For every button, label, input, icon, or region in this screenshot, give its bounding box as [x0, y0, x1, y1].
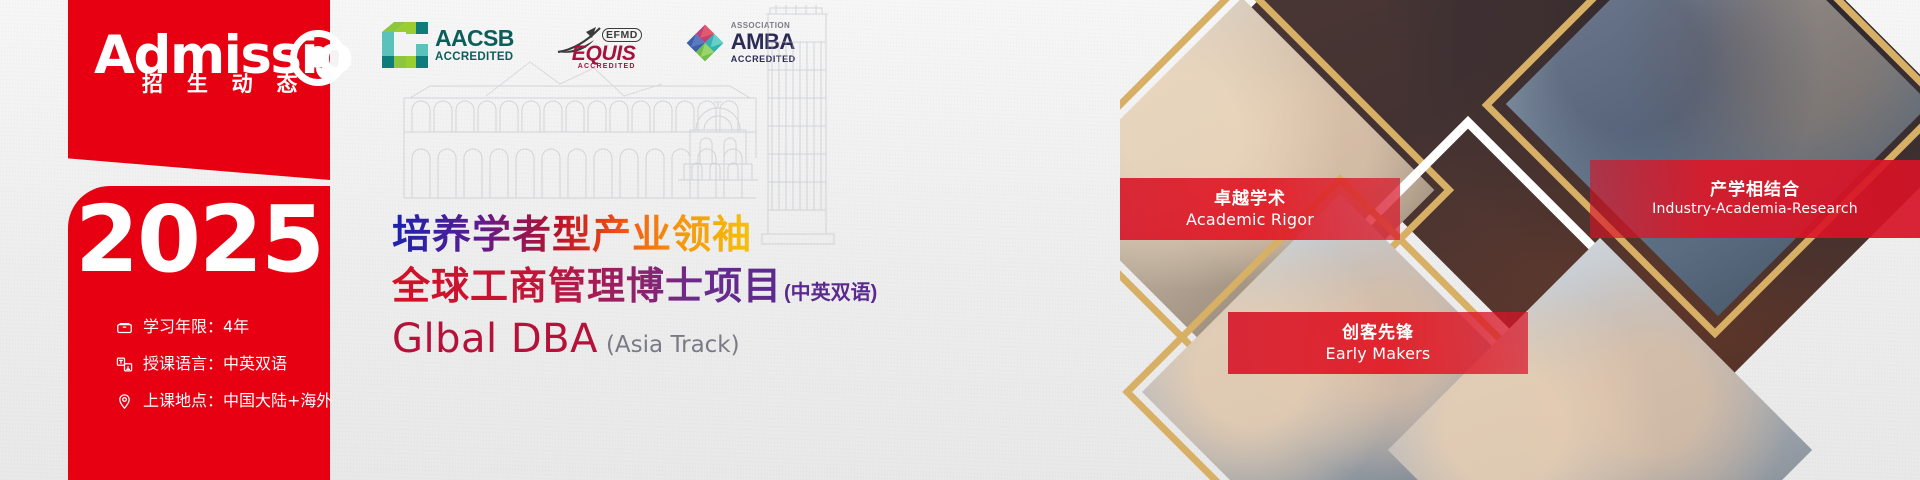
program-title-cn: 全球工商管理博士项目 [392, 264, 782, 310]
amba-name: AMBA [731, 30, 796, 53]
badge-early-makers-cn: 创客先锋 [1242, 323, 1514, 344]
amba-sub: ACCREDITED [731, 55, 796, 64]
amba-logo: ASSOCIATION AMBA ACCREDITED [684, 22, 796, 64]
badge-academic-rigor-cn: 卓越学术 [1120, 189, 1386, 210]
aacsb-squares-icon [382, 22, 428, 68]
aacsb-name: AACSB [435, 27, 514, 50]
aacsb-sub: ACCREDITED [435, 52, 514, 64]
badge-academic-rigor-en: Academic Rigor [1120, 210, 1386, 230]
amba-diamond-icon [684, 22, 726, 64]
calendar-icon [116, 319, 133, 336]
badge-early-makers-en: Early Makers [1242, 344, 1514, 364]
program-title-en-note: (Asia Track) [606, 332, 740, 358]
left-red-panel: Admissio 招 生 动 态 2025 学习年限：4年 [68, 0, 330, 480]
amba-text: ASSOCIATION AMBA ACCREDITED [731, 22, 796, 64]
program-title-cn-note: (中英双语) [784, 276, 877, 305]
equis-logo: EFMD EQUIS ACCREDITED [556, 22, 642, 70]
location-pin-icon [116, 393, 133, 410]
aacsb-logo: AACSB ACCREDITED [382, 22, 514, 68]
info-text-language: 授课语言：中英双语 [143, 355, 287, 373]
tagline: 培养学者型产业领袖 [392, 214, 752, 258]
info-row-location: 上课地点：中国大陆+海外 [116, 392, 356, 410]
aacsb-text: AACSB ACCREDITED [435, 27, 514, 64]
info-row-duration: 学习年限：4年 [116, 318, 356, 336]
accreditation-logos: AACSB ACCREDITED EFMD EQUIS ACCREDITED [382, 22, 796, 70]
admission-banner: Admissio 招 生 动 态 2025 学习年限：4年 [0, 0, 1920, 480]
year-label: 2025 [68, 186, 330, 294]
badge-academic-rigor: 卓越学术 Academic Rigor [1120, 178, 1400, 240]
photo-collage: 卓越学术 Academic Rigor 产学相结合 Industry-Acade… [1120, 0, 1920, 480]
admission-chinese-label: 招 生 动 态 [142, 68, 307, 98]
admission-logo: Admissio 招 生 动 态 [94, 28, 344, 108]
headline-block: 培养学者型产业领袖 全球工商管理博士项目 (中英双语) Glbal DBA (A… [392, 214, 1032, 362]
badge-early-makers: 创客先锋 Early Makers [1228, 312, 1528, 374]
program-title-en: Glbal DBA [392, 316, 598, 362]
info-text-duration: 学习年限：4年 [143, 318, 249, 336]
info-text-location: 上课地点：中国大陆+海外 [143, 392, 332, 410]
badge-industry-academia-cn: 产学相结合 [1604, 180, 1906, 201]
badge-industry-academia-en: Industry-Academia-Research [1604, 201, 1906, 218]
person-head-icon [307, 46, 329, 68]
efmd-label: EFMD [602, 28, 642, 42]
program-info-list: 学习年限：4年 授课语言：中英双语 [116, 318, 356, 429]
badge-industry-academia: 产学相结合 Industry-Academia-Research [1590, 160, 1920, 238]
language-icon [116, 356, 133, 373]
program-title-en-row: Glbal DBA (Asia Track) [392, 316, 1032, 362]
equis-sub: ACCREDITED [578, 63, 636, 70]
program-title-cn-row: 全球工商管理博士项目 (中英双语) [392, 264, 1032, 310]
info-row-language: 授课语言：中英双语 [116, 355, 356, 373]
